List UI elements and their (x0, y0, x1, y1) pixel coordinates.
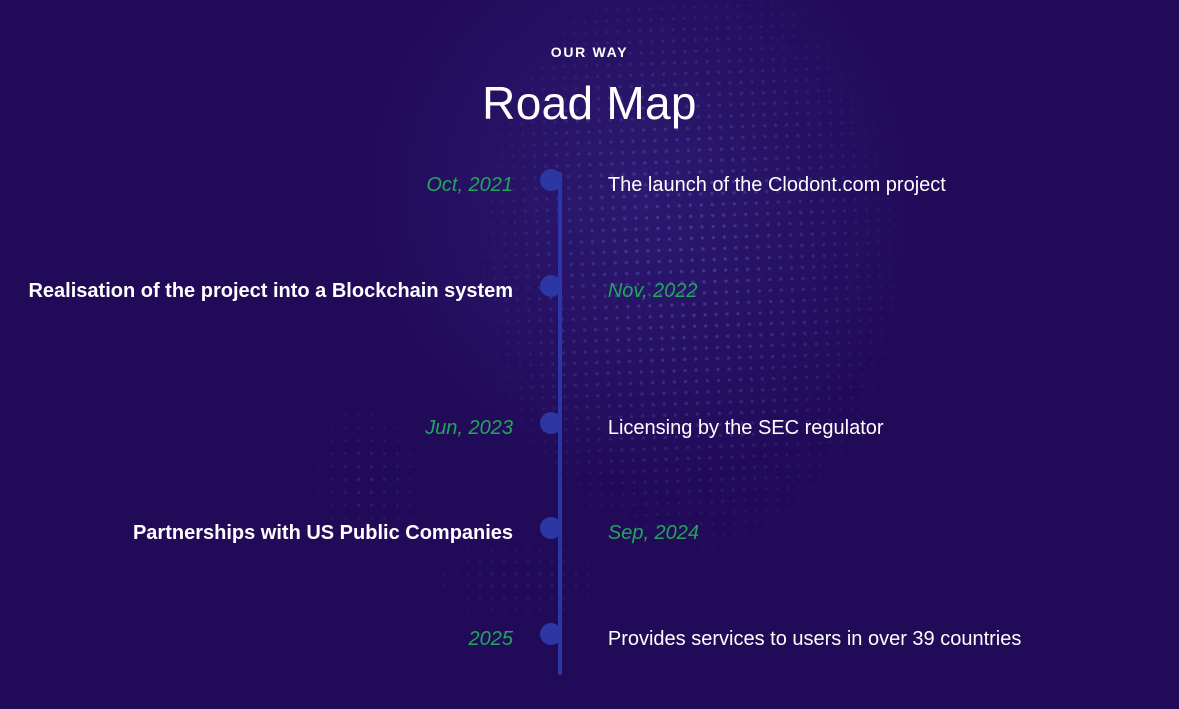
timeline-item-1-node (513, 170, 590, 191)
timeline-item-3-description: Licensing by the SEC regulator (608, 417, 884, 439)
timeline-item-4-left: Partnerships with US Public Companies (0, 518, 513, 549)
timeline-item-1-left: Oct, 2021 (0, 170, 513, 200)
timeline-dot-icon (540, 275, 562, 297)
timeline-item-1[interactable]: Oct, 2021 The launch of the Clodont.com … (0, 170, 1179, 201)
timeline-item-4-right: Sep, 2024 (590, 518, 1179, 548)
timeline-item-3-node (513, 413, 590, 434)
timeline-item-2-date: Nov, 2022 (608, 280, 698, 302)
roadmap-page: OUR WAY Road Map Oct, 2021 The launch of… (0, 0, 1179, 709)
timeline-dot-icon (540, 412, 562, 434)
timeline-item-1-description: The launch of the Clodont.com project (608, 174, 946, 196)
timeline-dot-icon (540, 169, 562, 191)
timeline-item-1-date: Oct, 2021 (426, 174, 513, 196)
timeline-item-4-date: Sep, 2024 (608, 522, 699, 544)
timeline-item-3-date: Jun, 2023 (425, 417, 513, 439)
timeline-item-5[interactable]: 2025 Provides services to users in over … (0, 624, 1179, 655)
timeline-item-2-node (513, 276, 590, 297)
timeline-item-2[interactable]: Realisation of the project into a Blockc… (0, 276, 1179, 307)
timeline-item-1-right: The launch of the Clodont.com project (590, 170, 1179, 201)
timeline-item-5-description: Provides services to users in over 39 co… (608, 628, 1022, 650)
timeline-item-3-left: Jun, 2023 (0, 413, 513, 443)
timeline-item-3-right: Licensing by the SEC regulator (590, 413, 1179, 444)
timeline-item-5-node (513, 624, 590, 645)
timeline-item-5-right: Provides services to users in over 39 co… (590, 624, 1179, 655)
roadmap-timeline: Oct, 2021 The launch of the Clodont.com … (0, 0, 1179, 709)
timeline-item-2-description: Realisation of the project into a Blockc… (28, 280, 513, 302)
timeline-item-2-left: Realisation of the project into a Blockc… (0, 276, 513, 307)
timeline-item-4-description: Partnerships with US Public Companies (133, 522, 513, 544)
timeline-item-4[interactable]: Partnerships with US Public Companies Se… (0, 518, 1179, 549)
timeline-item-4-node (513, 518, 590, 539)
timeline-item-5-date: 2025 (469, 628, 514, 650)
timeline-item-5-left: 2025 (0, 624, 513, 654)
timeline-item-3[interactable]: Jun, 2023 Licensing by the SEC regulator (0, 413, 1179, 444)
timeline-dot-icon (540, 623, 562, 645)
timeline-dot-icon (540, 517, 562, 539)
timeline-item-2-right: Nov, 2022 (590, 276, 1179, 306)
